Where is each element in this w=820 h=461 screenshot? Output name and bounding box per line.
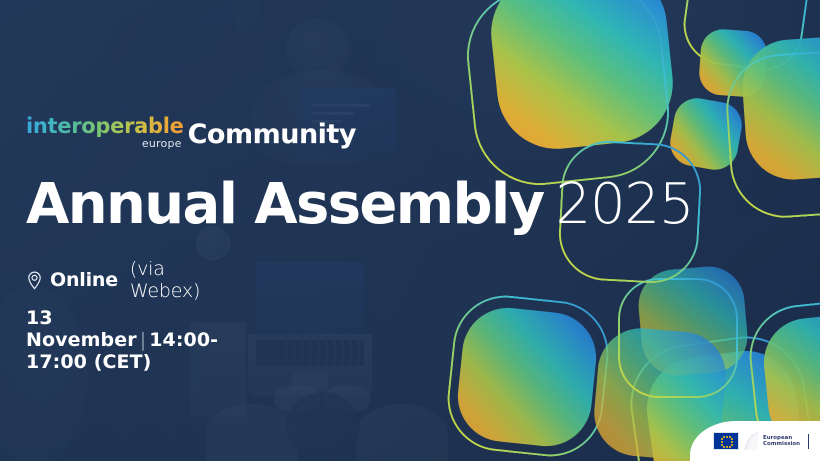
squircle-ring xyxy=(618,278,738,398)
squircle-shape xyxy=(442,290,613,461)
logo-word-europe: europe xyxy=(142,138,182,149)
eu-text-line2: Commission xyxy=(763,441,800,447)
page-title: Annual Assembly2025 xyxy=(26,172,693,237)
map-pin-icon xyxy=(26,271,43,290)
eu-flag-icon xyxy=(713,432,739,450)
event-date: 13 November xyxy=(26,307,137,351)
squircle-shape xyxy=(618,278,738,398)
eu-star xyxy=(731,444,733,446)
european-commission-logo-panel: European Commission xyxy=(690,421,820,461)
eu-star xyxy=(721,438,723,440)
eu-star xyxy=(731,438,733,440)
eu-star xyxy=(723,436,725,438)
squircle-shape xyxy=(722,46,820,221)
eu-star xyxy=(721,441,723,443)
eu-star xyxy=(726,436,728,438)
eu-logo-inner: European Commission xyxy=(701,432,809,450)
event-banner: interoperable europe Community Annual As… xyxy=(0,0,820,461)
event-datetime-line: 13 November|14:00-17:00 (CET) xyxy=(26,307,218,373)
eu-star xyxy=(731,441,733,443)
event-separator: | xyxy=(140,329,147,351)
eu-divider-bar xyxy=(808,434,809,449)
title-year: 2025 xyxy=(556,172,694,237)
event-location-line: Online (via Webex) xyxy=(26,258,218,302)
eu-star xyxy=(726,446,728,448)
squircle-ring xyxy=(442,290,613,461)
logo-word-interoperable: interoperable xyxy=(26,116,184,137)
squircle-ring xyxy=(722,46,820,221)
event-location-detail: (via Webex) xyxy=(130,258,218,302)
logo-word-community: Community xyxy=(188,121,356,149)
event-details: Online (via Webex) 13 November|14:00-17:… xyxy=(26,258,218,373)
eu-wave-icon xyxy=(744,432,758,450)
event-location-name: Online xyxy=(50,269,118,291)
title-main: Annual Assembly xyxy=(26,172,544,237)
eu-logo-text: European Commission xyxy=(763,435,800,448)
logo-mark: interoperable europe xyxy=(26,116,184,149)
interoperable-europe-community-logo: interoperable europe Community xyxy=(26,116,356,149)
eu-star xyxy=(729,446,731,448)
eu-star xyxy=(723,446,725,448)
